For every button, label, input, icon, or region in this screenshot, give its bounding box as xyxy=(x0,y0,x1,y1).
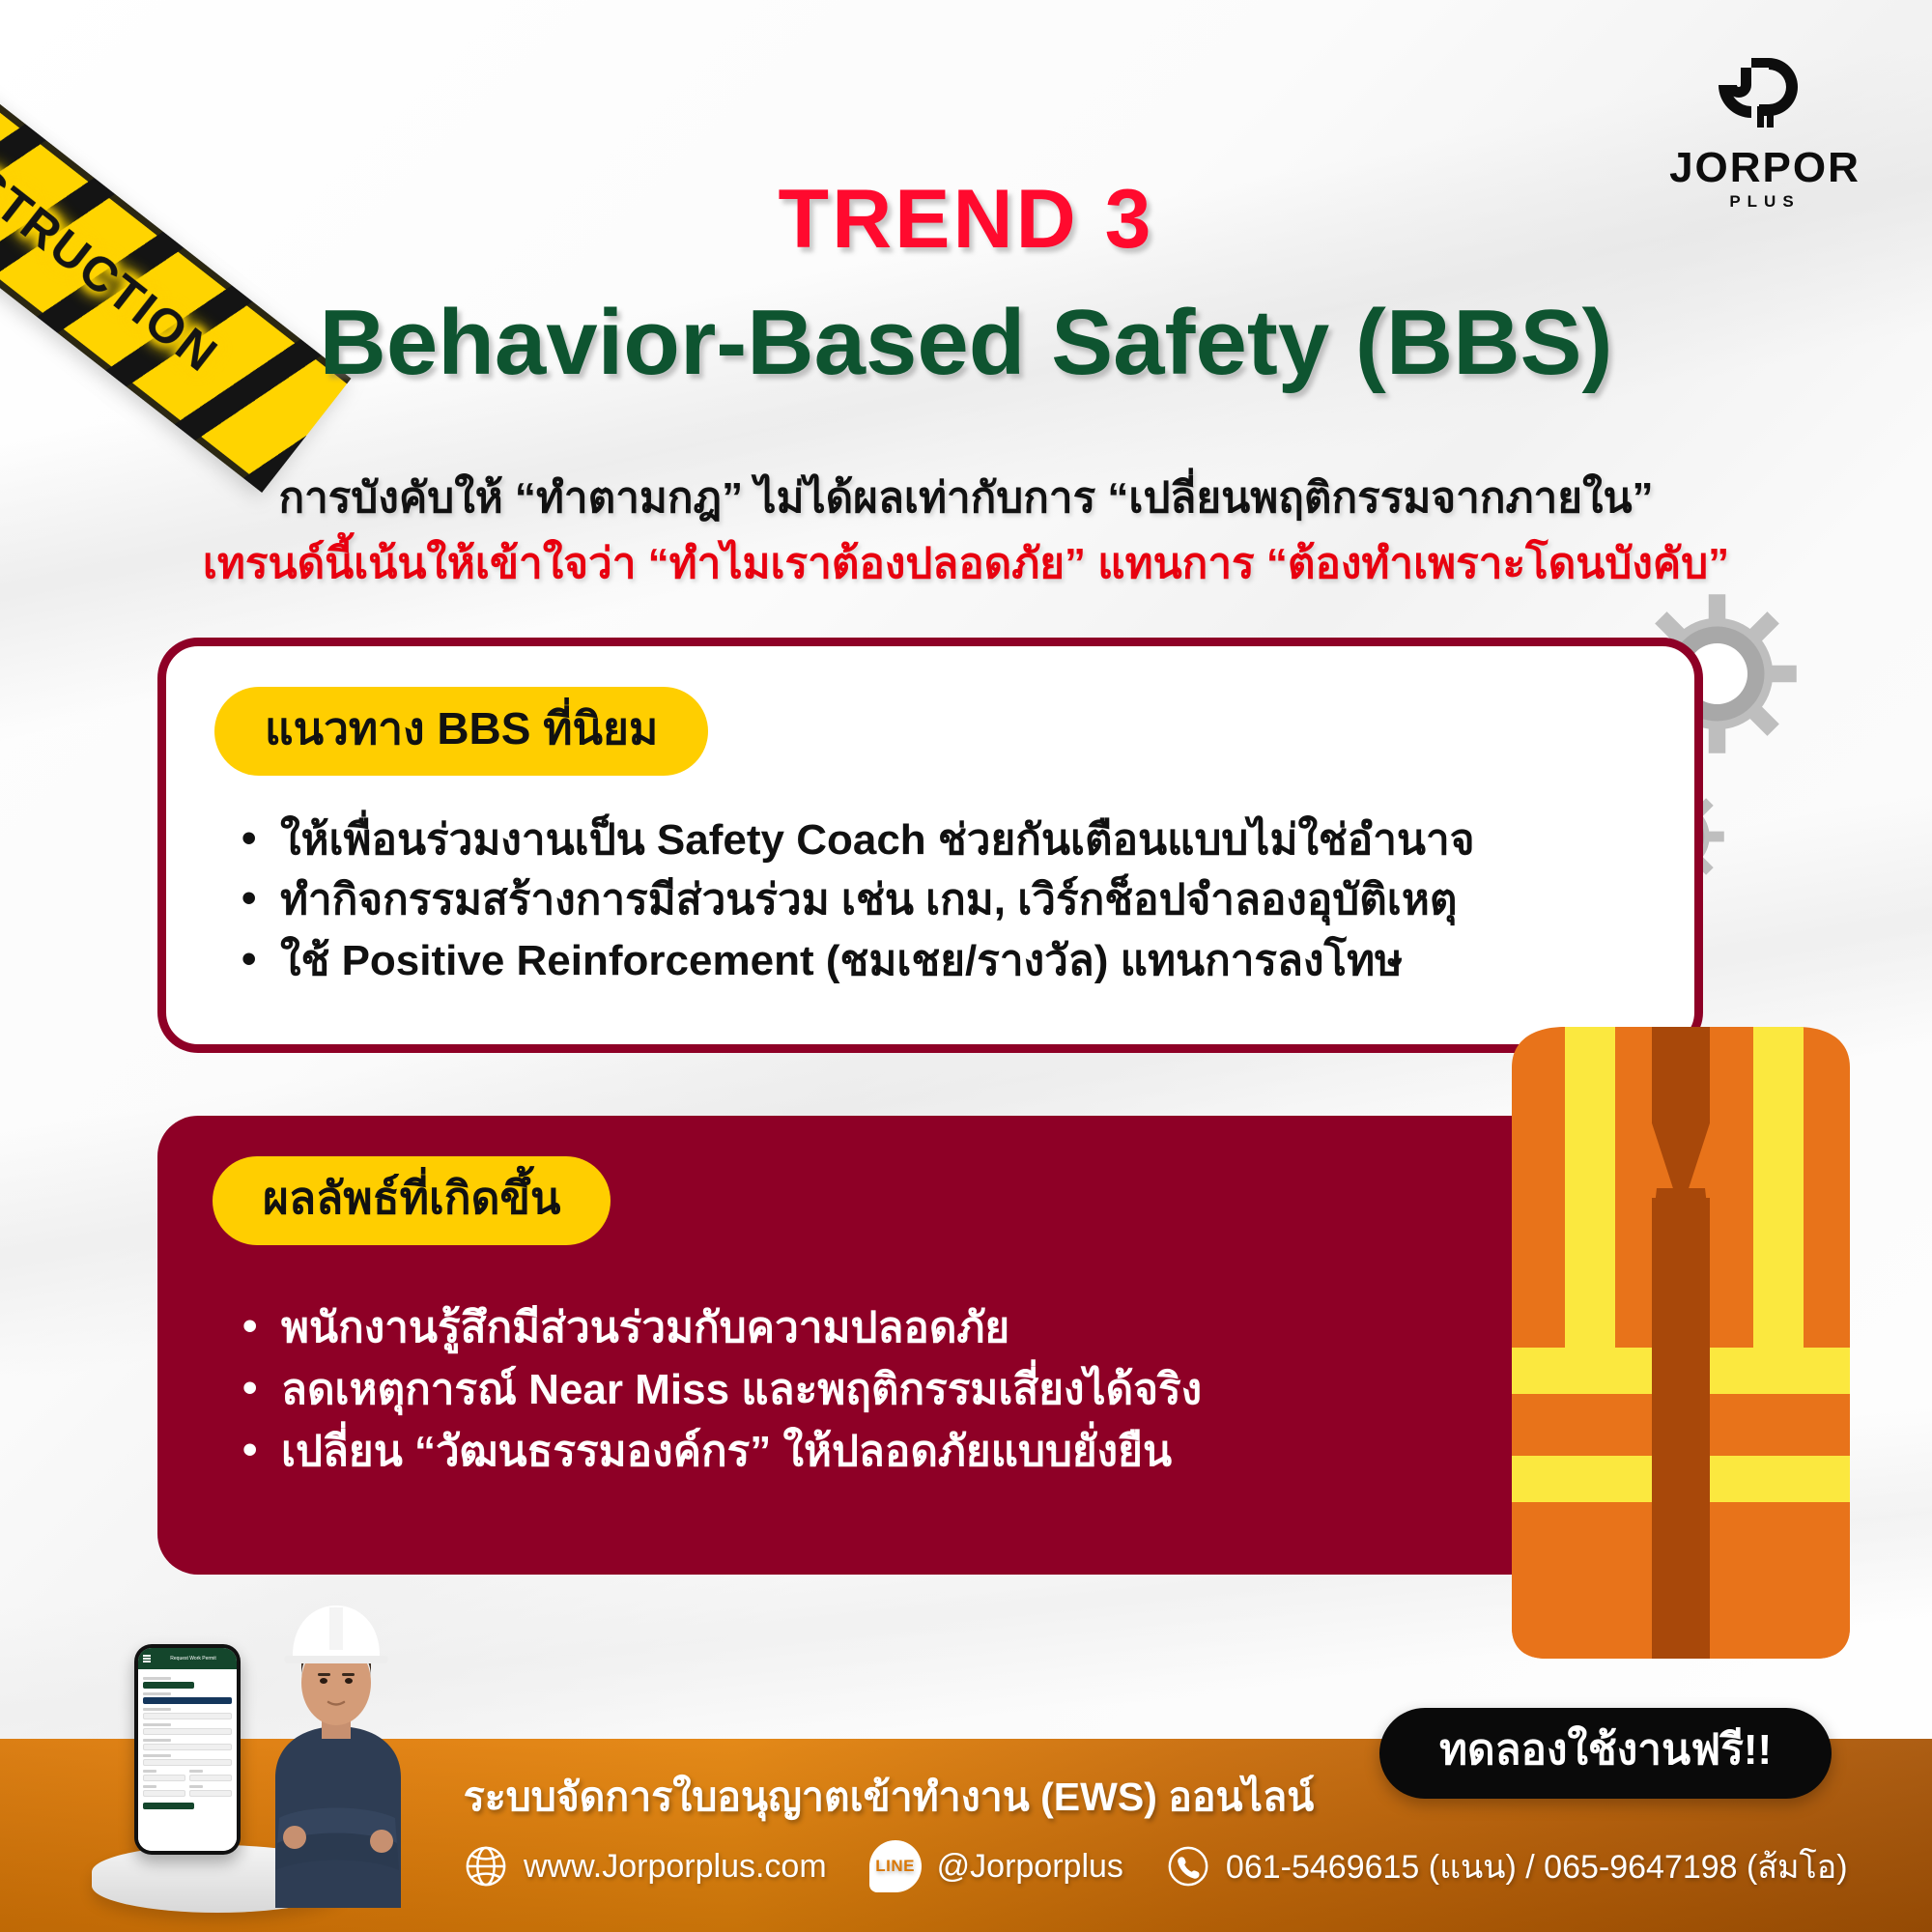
card1-bullet-list: ให้เพื่อนร่วมงานเป็น Safety Coach ช่วยกั… xyxy=(234,810,1636,991)
line-badge-label: LINE xyxy=(875,1857,915,1876)
page-title: Behavior-Based Safety (BBS) xyxy=(0,290,1932,396)
line-id-label: @Jorporplus xyxy=(937,1848,1123,1886)
card2-pill-container: ผลลัพธ์ที่เกิดขึ้น xyxy=(213,1156,611,1245)
form-submit-button[interactable] xyxy=(143,1803,194,1809)
form-button[interactable] xyxy=(143,1682,194,1689)
list-item: ให้เพื่อนร่วมงานเป็น Safety Coach ช่วยกั… xyxy=(234,810,1636,870)
card2-pill-label: ผลลัพธ์ที่เกิดขึ้น xyxy=(213,1156,611,1245)
free-trial-button[interactable]: ทดลองใช้งานฟรี!! xyxy=(1379,1708,1832,1799)
form-label xyxy=(143,1708,171,1711)
footer-headline: ระบบจัดการใบอนุญาตเข้าทำงาน (EWS) ออนไลน… xyxy=(454,1766,1323,1829)
form-label xyxy=(189,1770,203,1773)
contact-website[interactable]: www.Jorporplus.com xyxy=(464,1844,827,1889)
form-input[interactable] xyxy=(143,1790,185,1797)
form-input[interactable] xyxy=(143,1775,185,1781)
form-row xyxy=(143,1766,232,1781)
product-mockup: Request Work Permit xyxy=(92,1555,459,1932)
safety-vest-illustration xyxy=(1420,1009,1932,1686)
footer-contact-row: www.Jorporplus.com LINE @Jorporplus 061-… xyxy=(464,1840,1848,1892)
list-item: ใช้ Positive Reinforcement (ชมเชย/รางวัล… xyxy=(234,931,1636,991)
form-row xyxy=(143,1781,232,1797)
form-label xyxy=(143,1692,171,1695)
contact-phone[interactable]: 061-5469615 (แนน) / 065-9647198 (ส้มโอ) xyxy=(1166,1840,1848,1892)
form-label xyxy=(189,1785,203,1788)
form-input[interactable] xyxy=(143,1744,232,1750)
phone-screen: Request Work Permit xyxy=(138,1648,237,1851)
contact-line[interactable]: LINE @Jorporplus xyxy=(869,1840,1123,1892)
trend-eyebrow: TREND 3 xyxy=(0,172,1932,268)
form-label xyxy=(143,1770,156,1773)
phone-screen-title: Request Work Permit xyxy=(155,1656,232,1662)
form-select[interactable] xyxy=(143,1697,232,1704)
form-col xyxy=(189,1781,232,1797)
form-col xyxy=(143,1766,185,1781)
worker-photo-illustration xyxy=(237,1594,435,1908)
form-label xyxy=(143,1723,171,1726)
subtitle-line-2: เทรนด์นี้เน้นให้เข้าใจว่า “ทำไมเราต้องปล… xyxy=(0,529,1932,597)
jp-monogram-icon xyxy=(1707,50,1823,143)
form-input[interactable] xyxy=(143,1759,232,1766)
form-input[interactable] xyxy=(143,1728,232,1735)
form-label xyxy=(143,1754,171,1757)
form-label xyxy=(143,1785,156,1788)
form-col xyxy=(189,1766,232,1781)
form-label xyxy=(143,1739,171,1742)
form-col xyxy=(143,1781,185,1797)
phone-app-header: Request Work Permit xyxy=(138,1648,237,1669)
card1-pill-label: แนวทาง BBS ที่นิยม xyxy=(214,687,708,776)
globe-icon xyxy=(464,1844,508,1889)
subtitle-line-1: การบังคับให้ “ทำตามกฎ” ไม่ได้ผลเท่ากับกา… xyxy=(0,464,1932,531)
card-bbs-approaches: แนวทาง BBS ที่นิยม ให้เพื่อนร่วมงานเป็น … xyxy=(157,638,1703,1053)
hamburger-menu-icon[interactable] xyxy=(143,1658,151,1660)
list-item: ทำกิจกรรมสร้างการมีส่วนร่วม เช่น เกม, เว… xyxy=(234,870,1636,930)
phone-numbers-label: 061-5469615 (แนน) / 065-9647198 (ส้มโอ) xyxy=(1226,1840,1848,1892)
form-label xyxy=(143,1677,171,1680)
phone-form-body xyxy=(138,1669,237,1851)
card1-pill-container: แนวทาง BBS ที่นิยม xyxy=(214,687,708,776)
phone-icon xyxy=(1166,1844,1210,1889)
website-label: www.Jorporplus.com xyxy=(524,1848,827,1886)
form-input[interactable] xyxy=(189,1790,232,1797)
form-input[interactable] xyxy=(143,1713,232,1719)
form-input[interactable] xyxy=(189,1775,232,1781)
phone-device-mockup: Request Work Permit xyxy=(134,1644,241,1855)
line-icon: LINE xyxy=(869,1840,922,1892)
